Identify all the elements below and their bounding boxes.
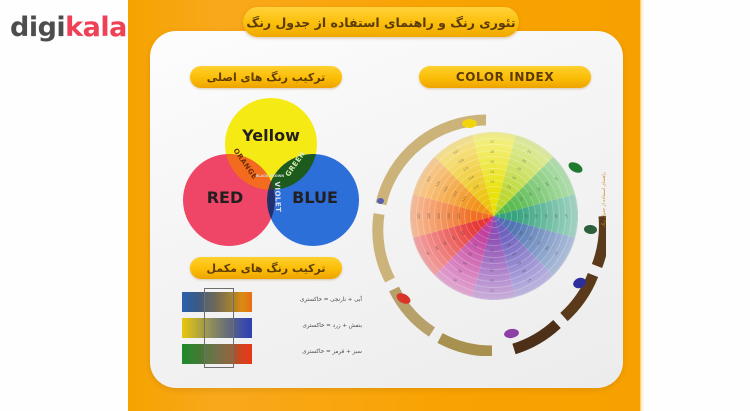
color-wheel-disc [410, 132, 578, 300]
wheel-tick-label: 75 [490, 268, 494, 272]
complementary-equation-3: سبز + قرمز = خاکستری [270, 349, 362, 355]
venn-diagram: Yellow RED BLUE ORANGE GREEN VIOLET BLAC… [183, 98, 358, 248]
complementary-equation-2: بنفش + زرد = خاکستری [270, 323, 362, 329]
arc-brown-lower [514, 324, 557, 349]
wheel-sectors [410, 132, 578, 300]
wheel-tick-label: 73 [490, 248, 494, 252]
gray-zone-frame [204, 288, 234, 368]
complementary-bars-group: آبی + نارنجی = خاکستری بنفش + زرد = خاکس… [182, 292, 362, 368]
wheel-tick-label: 103 [457, 213, 461, 219]
wheel-tick-label: 77 [490, 288, 494, 292]
wheel-tick-label: 17 [490, 140, 494, 144]
poster-title-text: تئوری رنگ و راهنمای استفاده از جدول رنگ [246, 15, 515, 30]
wheel-tick-label: 44 [534, 214, 538, 218]
arc-tan-bottom [440, 338, 492, 351]
logo-text-kala: kala [65, 12, 127, 43]
logo-text-digi: digi [10, 12, 65, 43]
dot-small-blue [377, 198, 384, 204]
color-wheel-group: 1314151617232425262733343536374344454647… [368, 108, 606, 356]
section-label-primary-mix: ترکیب رنگ های اصلی [207, 71, 326, 84]
section-pill-color-index: COLOR INDEX [419, 66, 591, 88]
wheel-tick-label: 43 [524, 214, 528, 218]
wheel-tick-label: 13 [490, 180, 494, 184]
poster-title-pill: تئوری رنگ و راهنمای استفاده از جدول رنگ [243, 7, 519, 37]
wheel-tick-label: 74 [490, 258, 494, 262]
venn-overlap-shapes [183, 98, 358, 248]
poster-root: digikala ترکیب رنگ های اصلی COLOR INDEX … [0, 0, 750, 411]
wheel-tick-label: 106 [427, 213, 431, 219]
wheel-tick-label: 76 [490, 278, 494, 282]
dot-yellow [462, 119, 477, 128]
section-label-color-index: COLOR INDEX [456, 70, 554, 84]
wheel-tick-label: 107 [417, 213, 421, 219]
arc-tan-mid [378, 214, 390, 280]
wheel-tick-label: 14 [490, 170, 494, 174]
digikala-logo: digikala [10, 14, 127, 41]
section-pill-complementary-mix: ترکیب رنگ های مکمل [190, 257, 342, 279]
section-pill-primary-mix: ترکیب رنگ های اصلی [190, 66, 342, 88]
wheel-tick-label: 15 [490, 160, 494, 164]
wheel-tick-label: 105 [437, 213, 441, 219]
wheel-tick-label: 46 [554, 214, 558, 218]
section-label-complementary-mix: ترکیب رنگ های مکمل [207, 262, 326, 275]
side-note-text: راهنمای استفاده از جدول رنگ [602, 172, 607, 227]
poster-white-card: ترکیب رنگ های اصلی COLOR INDEX ترکیب رنگ… [150, 31, 623, 388]
wheel-tick-label: 47 [564, 214, 568, 218]
wheel-tick-label: 16 [490, 150, 494, 154]
complementary-equation-1: آبی + نارنجی = خاکستری [270, 297, 362, 303]
wheel-tick-label: 45 [544, 214, 548, 218]
wheel-tick-label: 104 [447, 213, 451, 219]
